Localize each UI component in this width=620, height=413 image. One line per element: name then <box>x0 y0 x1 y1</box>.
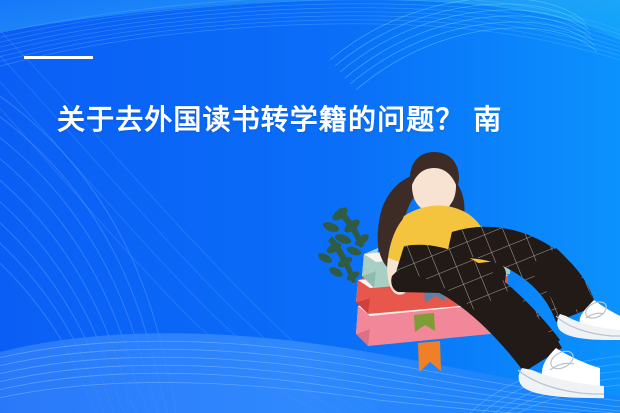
figure <box>378 152 620 398</box>
page-title: 关于去外国读书转学籍的问题？ 南 <box>57 103 617 137</box>
student-illustration <box>0 0 620 413</box>
bookmark-orange <box>418 341 441 372</box>
title-divider-rule <box>24 56 93 59</box>
promo-banner: 关于去外国读书转学籍的问题？ 南 <box>0 0 620 413</box>
